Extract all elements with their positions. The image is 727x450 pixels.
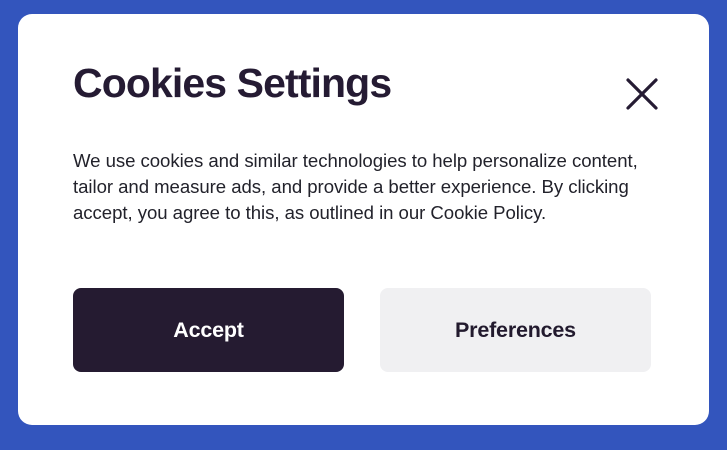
close-button[interactable] <box>620 72 664 116</box>
close-x-icon <box>625 77 659 111</box>
accept-button[interactable]: Accept <box>73 288 344 372</box>
preferences-button[interactable]: Preferences <box>380 288 651 372</box>
cookies-settings-dialog: Cookies Settings We use cookies and simi… <box>18 14 709 425</box>
page-title: Cookies Settings <box>73 58 391 108</box>
dialog-header: Cookies Settings <box>73 58 673 124</box>
dialog-actions: Accept Preferences <box>73 288 651 372</box>
dialog-description: We use cookies and similar technologies … <box>73 148 665 227</box>
page-root: Cookies Settings We use cookies and simi… <box>0 0 727 450</box>
